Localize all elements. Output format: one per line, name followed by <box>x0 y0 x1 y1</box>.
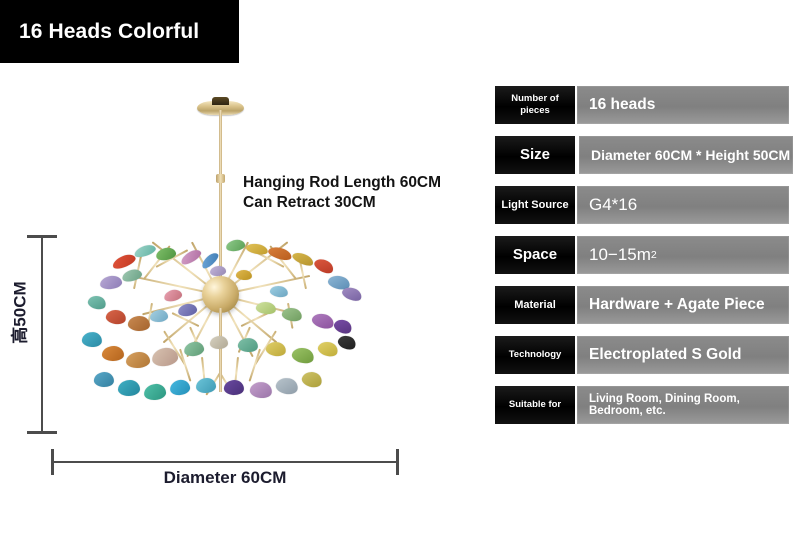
agate-leaf <box>224 379 245 395</box>
agate-leaf <box>111 252 137 271</box>
agate-leaf <box>81 331 102 348</box>
spec-value-text: Living Room, Dining Room, Bedroom, etc. <box>589 393 789 417</box>
spec-value-text: Hardware + Agate Piece <box>589 296 765 314</box>
spec-value-text: Electroplated S Gold <box>589 346 741 364</box>
agate-leaf <box>118 380 140 396</box>
agate-leaf <box>99 275 122 290</box>
spec-key: Material <box>495 286 575 324</box>
agate-leaf <box>163 288 183 303</box>
spec-value: Hardware + Agate Piece <box>577 286 789 324</box>
agate-leaf <box>312 256 335 276</box>
spec-value: Diameter 60CM * Height 50CM <box>579 136 793 174</box>
agate-leaf <box>128 315 151 331</box>
agate-leaf <box>94 371 115 387</box>
hanging-rod-upper <box>219 110 222 218</box>
rod-note-line-2: Can Retract 30CM <box>243 193 441 213</box>
spec-value: 10−15m2 <box>577 236 789 274</box>
chandelier-illustration <box>60 80 420 460</box>
canopy-cap-icon <box>212 97 229 105</box>
agate-leaf <box>332 317 354 336</box>
spec-value: Living Room, Dining Room, Bedroom, etc. <box>577 386 789 424</box>
agate-leaf <box>291 250 315 268</box>
lower-stem <box>219 308 222 392</box>
agate-leaf <box>183 341 205 358</box>
spec-key: Suitable for <box>495 386 575 424</box>
spec-key: Number of pieces <box>495 86 575 124</box>
spec-value-text: Diameter 60CM * Height 50CM <box>591 147 790 163</box>
agate-leaf <box>105 308 127 325</box>
agate-leaf <box>316 339 339 358</box>
agate-leaf <box>275 376 300 396</box>
spec-key: Space <box>495 236 575 274</box>
rod-joint-icon <box>216 174 225 183</box>
agate-leaf <box>281 306 303 323</box>
agate-leaf <box>121 268 143 284</box>
diameter-dimension-label: Diameter 60CM <box>52 468 398 488</box>
spec-key: Light Source <box>495 186 575 224</box>
header-banner: 16 Heads Colorful <box>0 0 239 63</box>
spec-row: TechnologyElectroplated S Gold <box>495 336 795 374</box>
spec-value-superscript: 2 <box>651 249 657 261</box>
spec-value: Electroplated S Gold <box>577 336 789 374</box>
spec-key: Technology <box>495 336 575 374</box>
agate-leaf <box>340 285 363 304</box>
agate-leaf <box>336 333 358 352</box>
agate-leaf <box>249 381 273 400</box>
agate-leaf <box>150 309 169 322</box>
spec-value: G4*16 <box>577 186 789 224</box>
height-dimension-tick-bottom <box>27 431 57 434</box>
agate-leaf <box>210 265 227 276</box>
agate-leaf <box>151 347 179 368</box>
agate-leaf <box>265 340 287 357</box>
spec-key: Size <box>495 136 575 174</box>
hanging-rod-annotation: Hanging Rod Length 60CM Can Retract 30CM <box>243 173 441 213</box>
agate-leaf <box>245 242 269 256</box>
product-infographic: 16 Heads Colorful Hanging Rod Length 60C… <box>0 0 800 559</box>
agate-leaf <box>291 346 316 366</box>
agate-leaf <box>255 301 276 316</box>
agate-leaf <box>133 243 157 259</box>
agate-leaf <box>87 294 108 311</box>
agate-leaf <box>196 378 217 394</box>
agate-leaf <box>169 379 190 396</box>
agate-leaf <box>210 336 228 349</box>
spec-row: Suitable forLiving Room, Dining Room, Be… <box>495 386 795 424</box>
spec-row: Space10−15m2 <box>495 236 795 274</box>
height-dimension-line <box>41 236 43 433</box>
rod-note-line-1: Hanging Rod Length 60CM <box>243 173 441 193</box>
spec-row: Light SourceG4*16 <box>495 186 795 224</box>
spec-value-text: 16 heads <box>589 96 655 114</box>
spec-value-text: 10−15m <box>589 245 651 265</box>
spec-row: MaterialHardware + Agate Piece <box>495 286 795 324</box>
spec-row: SizeDiameter 60CM * Height 50CM <box>495 136 795 174</box>
specification-table: Number of pieces16 headsSizeDiameter 60C… <box>495 86 795 436</box>
page-title: 16 Heads Colorful <box>0 20 199 44</box>
agate-leaf <box>269 285 289 299</box>
agate-leaf <box>102 346 125 362</box>
spec-row: Number of pieces16 heads <box>495 86 795 124</box>
height-dimension-label: 高50CM <box>6 277 31 349</box>
spec-value-text: G4*16 <box>589 195 637 215</box>
agate-leaf <box>310 311 335 331</box>
agate-leaf <box>143 383 166 400</box>
spec-value: 16 heads <box>577 86 789 124</box>
agate-leaf <box>300 370 323 390</box>
agate-leaf <box>126 352 151 369</box>
diameter-dimension-line <box>52 461 398 463</box>
